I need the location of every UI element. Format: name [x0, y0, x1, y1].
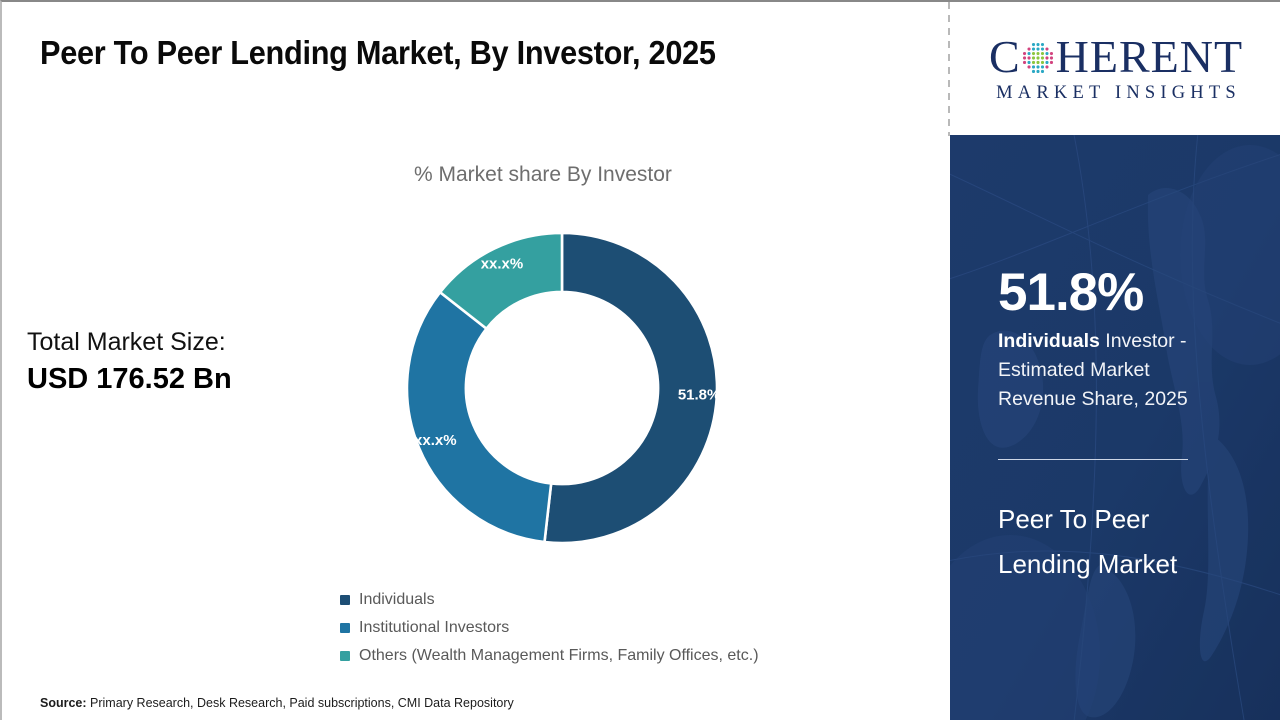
legend-item-others[interactable]: Others (Wealth Management Firms, Family … [340, 646, 759, 665]
globe-dot [1036, 61, 1039, 64]
highlight-description: Individuals Investor - Estimated Market … [998, 327, 1223, 414]
globe-dot [1027, 65, 1030, 68]
chart-legend: Individuals Institutional Investors Othe… [340, 590, 759, 665]
donut-slice-group [407, 233, 717, 543]
total-market-size-label: Total Market Size: [27, 326, 327, 360]
globe-dot [1032, 61, 1035, 64]
globe-dot [1032, 70, 1035, 73]
highlight-stat-content: 51.8% Individuals Investor - Estimated M… [998, 135, 1248, 720]
source-label: Source: [40, 696, 87, 710]
globe-dot [1036, 52, 1039, 55]
globe-dot [1045, 47, 1048, 50]
donut-chart-svg: 51.8%xx.x%xx.x% [392, 218, 732, 558]
globe-dot [1050, 52, 1053, 55]
globe-dot [1032, 43, 1035, 46]
globe-dot [1036, 56, 1039, 59]
donut-slice-label-3: xx.x% [481, 255, 524, 272]
source-text: Primary Research, Desk Research, Paid su… [87, 696, 514, 710]
legend-label-individuals: Individuals [359, 592, 435, 608]
globe-dot [1032, 47, 1035, 50]
globe-dot [1036, 47, 1039, 50]
infographic-root: Peer To Peer Lending Market, By Investor… [0, 0, 1280, 720]
globe-dot [1041, 52, 1044, 55]
logo-tagline: MARKET INSIGHTS [991, 83, 1241, 104]
globe-dot [1036, 43, 1039, 46]
company-logo[interactable]: C HERENT MARKET INSIGHTS [950, 2, 1280, 135]
highlight-stat-panel: 51.8% Individuals Investor - Estimated M… [950, 135, 1280, 720]
globe-dot [1050, 61, 1053, 64]
chart-subtitle: % Market share By Investor [414, 163, 672, 187]
main-content-panel: Peer To Peer Lending Market, By Investor… [2, 2, 949, 720]
page-title: Peer To Peer Lending Market, By Investor… [40, 34, 840, 72]
globe-dot [1027, 56, 1030, 59]
highlight-percent: 51.8% [998, 266, 1143, 319]
globe-dot [1032, 52, 1035, 55]
legend-item-individuals[interactable]: Individuals [340, 590, 759, 609]
legend-label-others: Others (Wealth Management Firms, Family … [359, 648, 759, 664]
highlight-market-name: Peer To Peer Lending Market [998, 497, 1228, 586]
highlight-description-bold: Individuals [998, 330, 1100, 352]
legend-label-institutional-investors: Institutional Investors [359, 620, 509, 636]
logo-wordmark: C HERENT [989, 33, 1243, 81]
globe-dot [1045, 52, 1048, 55]
globe-dot [1023, 61, 1026, 64]
globe-dot [1050, 56, 1053, 59]
globe-dot [1041, 61, 1044, 64]
legend-swatch-individuals [340, 595, 350, 605]
legend-swatch-others [340, 651, 350, 661]
dotted-globe-icon [1021, 41, 1055, 75]
globe-dot [1027, 47, 1030, 50]
donut-slice-label-1: 51.8% [678, 387, 721, 404]
logo-letters-rest: HERENT [1056, 34, 1243, 80]
globe-dot [1036, 65, 1039, 68]
legend-swatch-institutional-investors [340, 623, 350, 633]
legend-item-institutional-investors[interactable]: Institutional Investors [340, 618, 759, 637]
globe-dot [1032, 65, 1035, 68]
total-market-size-block: Total Market Size: USD 176.52 Bn [27, 326, 327, 399]
total-market-size-value: USD 176.52 Bn [27, 360, 327, 399]
globe-dot [1041, 43, 1044, 46]
globe-dot [1027, 61, 1030, 64]
globe-dot [1041, 47, 1044, 50]
globe-dot [1032, 56, 1035, 59]
globe-dot [1041, 56, 1044, 59]
globe-dot [1041, 65, 1044, 68]
globe-dot [1023, 52, 1026, 55]
globe-dot [1023, 56, 1026, 59]
globe-dot [1045, 65, 1048, 68]
globe-dot [1027, 52, 1030, 55]
globe-dot [1036, 70, 1039, 73]
donut-slice-label-2: xx.x% [414, 432, 457, 449]
logo-letter-c: C [989, 34, 1021, 80]
brand-panel: C HERENT MARKET INSIGHTS [950, 2, 1280, 720]
globe-dot [1045, 56, 1048, 59]
donut-chart: 51.8%xx.x%xx.x% [392, 218, 732, 558]
globe-dot [1041, 70, 1044, 73]
source-note: Source: Primary Research, Desk Research,… [40, 696, 514, 710]
donut-slice-2[interactable] [407, 292, 551, 542]
globe-dot [1045, 61, 1048, 64]
highlight-divider-rule [998, 459, 1188, 460]
